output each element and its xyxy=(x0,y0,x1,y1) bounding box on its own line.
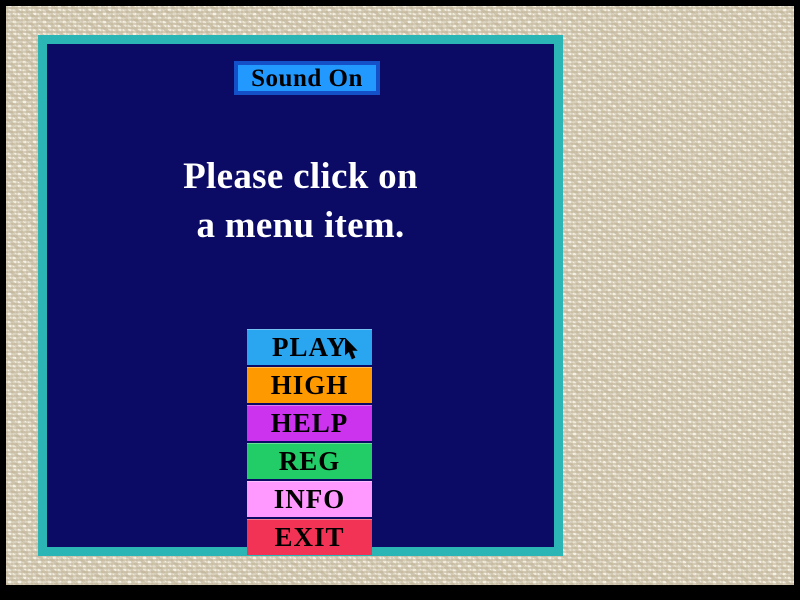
menu-item-help[interactable]: HELP xyxy=(247,405,372,441)
sound-toggle-button[interactable]: Sound On xyxy=(234,61,380,95)
main-menu: PLAY HIGH HELP REG INFO EXIT xyxy=(247,329,372,555)
menu-item-info[interactable]: INFO xyxy=(247,481,372,517)
instruction-text: Please click on a menu item. xyxy=(47,152,554,250)
game-panel-inner: Sound On Please click on a menu item. PL… xyxy=(47,44,554,547)
menu-item-high[interactable]: HIGH xyxy=(247,367,372,403)
game-panel: Sound On Please click on a menu item. PL… xyxy=(38,35,563,556)
menu-item-reg[interactable]: REG xyxy=(247,443,372,479)
menu-item-play[interactable]: PLAY xyxy=(247,329,372,365)
instruction-line-1: Please click on xyxy=(47,152,554,201)
menu-item-exit[interactable]: EXIT xyxy=(247,519,372,555)
instruction-line-2: a menu item. xyxy=(47,201,554,250)
game-screen: Sound On Please click on a menu item. PL… xyxy=(0,0,800,600)
